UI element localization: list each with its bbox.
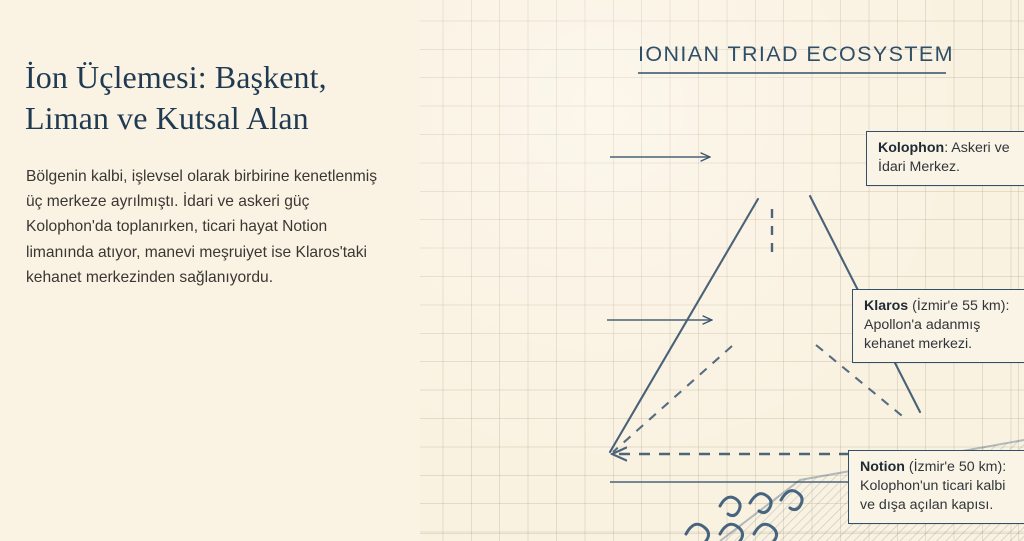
diagram-panel: IONIAN TRIAD ECOSYSTEM bbox=[420, 0, 1024, 541]
card-title-klaros: Klaros bbox=[864, 298, 908, 314]
card-title-notion: Notion bbox=[860, 459, 905, 475]
label-card-kolophon[interactable]: Kolophon: Askeri ve İdari Merkez. bbox=[866, 131, 1024, 186]
label-card-klaros[interactable]: Klaros (İzmir'e 55 km): Apollon'a adanmı… bbox=[852, 289, 1024, 363]
text-panel: İon Üçlemesi: Başkent, Liman ve Kutsal A… bbox=[0, 0, 420, 541]
body-paragraph: Bölgenin kalbi, işlevsel olarak birbirin… bbox=[26, 164, 386, 291]
page-title: İon Üçlemesi: Başkent, Liman ve Kutsal A… bbox=[25, 57, 400, 138]
infographic-canvas: IONIAN TRIAD ECOSYSTEM bbox=[0, 0, 1024, 541]
card-title-kolophon: Kolophon bbox=[878, 140, 944, 156]
label-card-notion[interactable]: Notion (İzmir'e 50 km): Kolophon'un tica… bbox=[848, 450, 1024, 524]
